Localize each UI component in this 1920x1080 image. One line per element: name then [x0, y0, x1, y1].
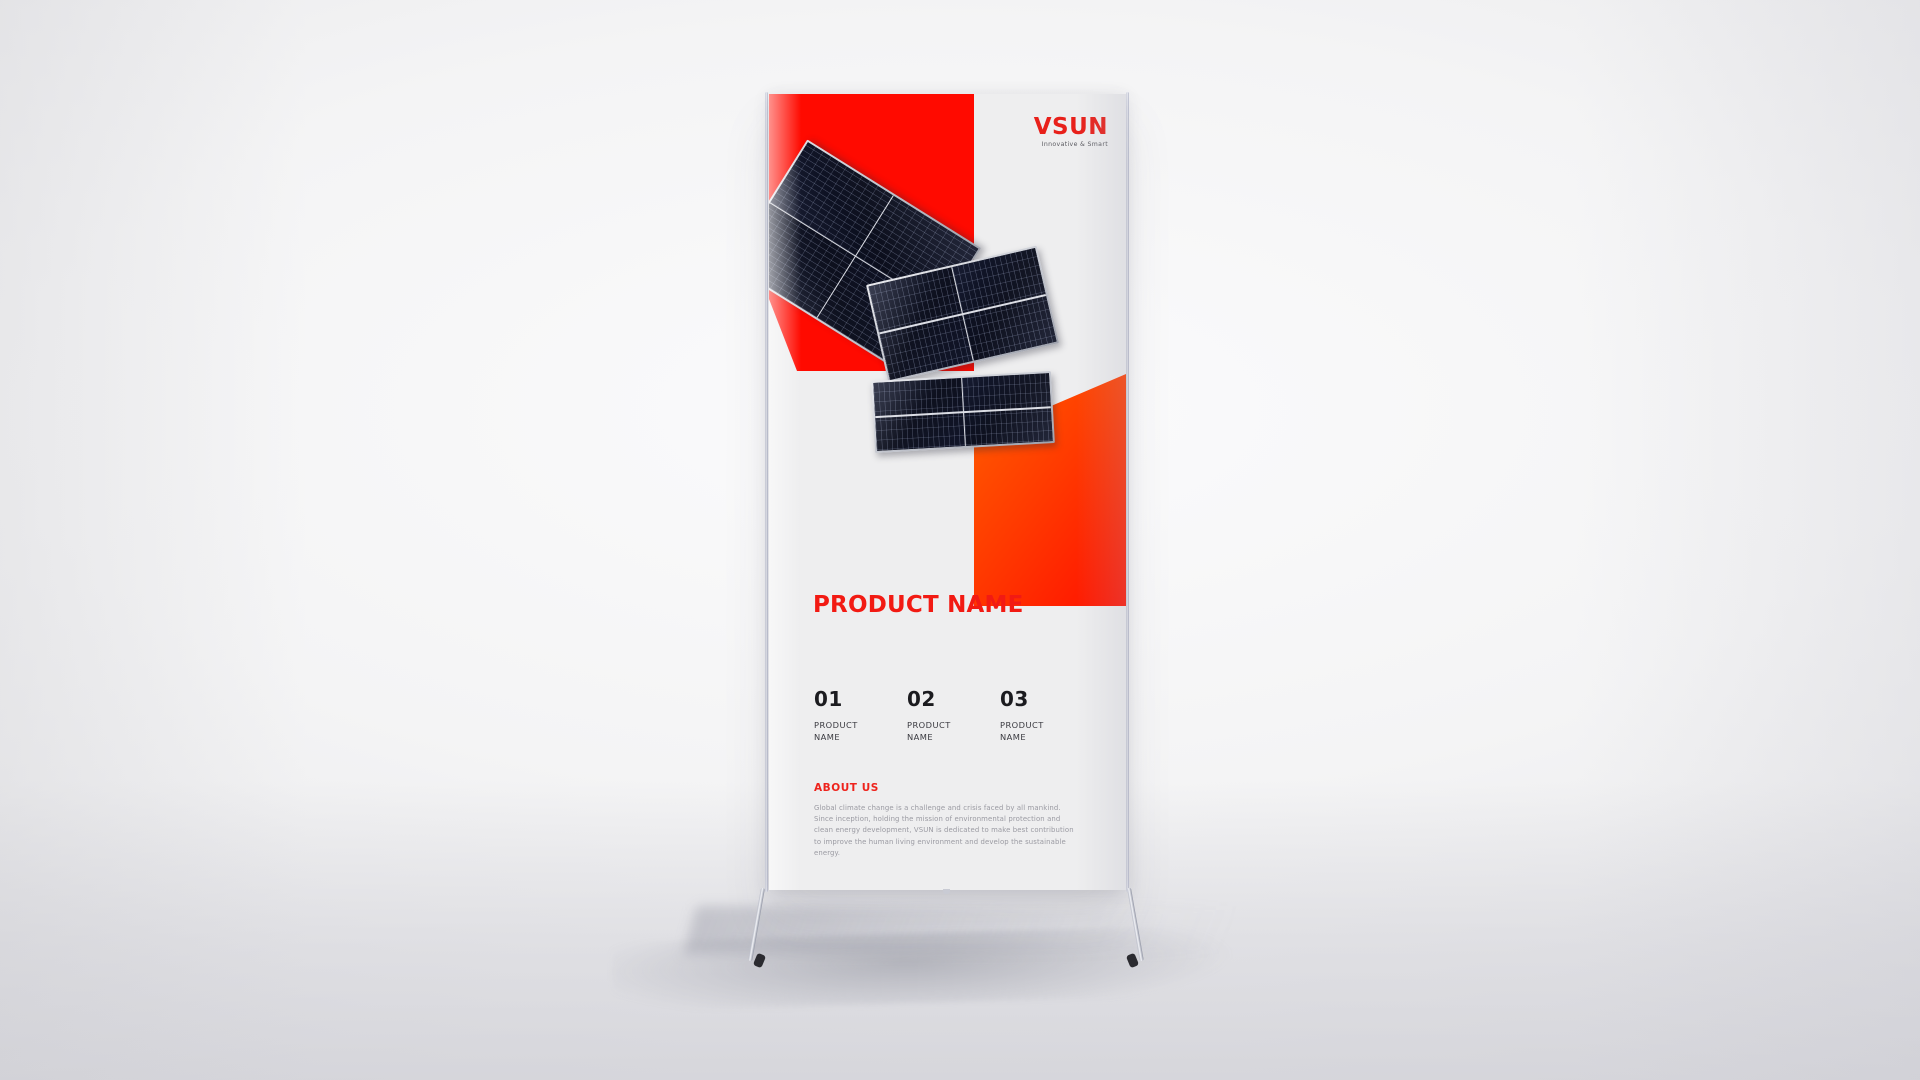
stand-pole-left: [765, 92, 768, 892]
about-us-body: Global climate change is a challenge and…: [814, 803, 1081, 859]
logo-tagline: Innovative & Smart: [1034, 142, 1108, 148]
about-us-title: ABOUT US: [814, 782, 1081, 794]
step-label: PRODUCT NAME: [907, 719, 1000, 743]
list-item: 02 PRODUCT NAME: [907, 689, 1000, 743]
step-number: 03: [1000, 689, 1093, 709]
page-title: PRODUCT NAME: [813, 592, 1073, 618]
logo-wordmark: VSUN: [1034, 116, 1108, 139]
product-steps-list: 01 PRODUCT NAME 02 PRODUCT NAME 03 PRODU…: [814, 689, 1094, 743]
list-item: 03 PRODUCT NAME: [1000, 689, 1093, 743]
banner-content: VSUN Innovative & Smart PRODUCT NAME 01 …: [769, 94, 1126, 890]
banner-print-face[interactable]: VSUN Innovative & Smart PRODUCT NAME 01 …: [769, 94, 1126, 890]
step-label: PRODUCT NAME: [1000, 719, 1093, 743]
about-us-section: ABOUT US Global climate change is a chal…: [814, 782, 1081, 859]
brand-logo: VSUN Innovative & Smart: [1034, 116, 1108, 148]
studio-scene: VSUN Innovative & Smart PRODUCT NAME 01 …: [0, 0, 1920, 1080]
stand-center-clip: [943, 889, 950, 894]
stand-pole-right: [1126, 92, 1129, 892]
step-label: PRODUCT NAME: [814, 719, 907, 743]
step-number: 01: [814, 689, 907, 709]
x-banner-stand[interactable]: VSUN Innovative & Smart PRODUCT NAME 01 …: [765, 92, 1135, 972]
list-item: 01 PRODUCT NAME: [814, 689, 907, 743]
step-number: 02: [907, 689, 1000, 709]
